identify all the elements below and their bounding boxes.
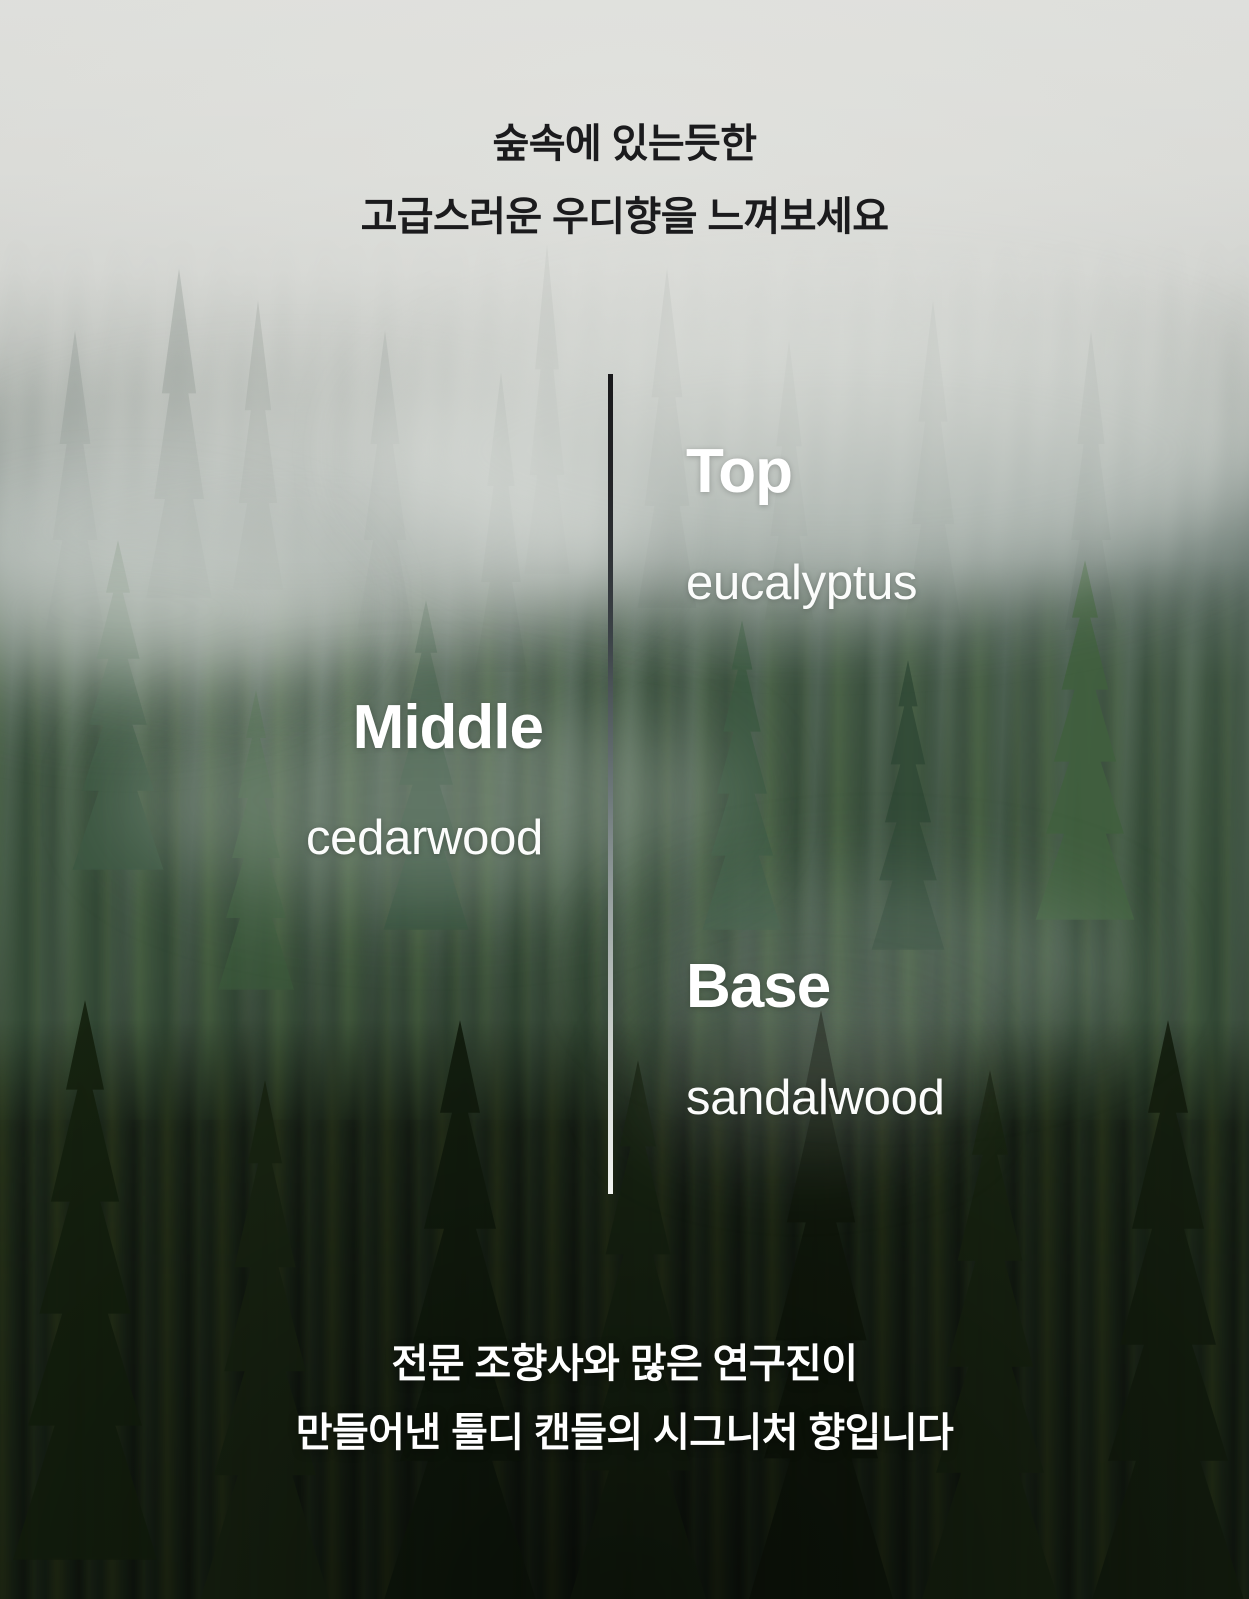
fragrance-note-middle: Middle cedarwood	[0, 697, 543, 863]
vertical-divider-line	[608, 374, 613, 1194]
note-title-middle: Middle	[0, 697, 543, 759]
note-value-base: sandalwood	[686, 1074, 945, 1123]
promo-banner: 숲속에 있는듯한 고급스러운 우디향을 느껴보세요 Top eucalyptus…	[0, 0, 1249, 1599]
note-title-base: Base	[686, 956, 945, 1018]
content-layer: 숲속에 있는듯한 고급스러운 우디향을 느껴보세요 Top eucalyptus…	[0, 0, 1249, 1599]
fragrance-note-top: Top eucalyptus	[686, 441, 917, 608]
footer-text: 전문 조향사와 많은 연구진이 만들어낸 툴디 캔들의 시그니처 향입니다	[0, 1330, 1249, 1468]
note-value-middle: cedarwood	[0, 814, 543, 863]
fragrance-note-base: Base sandalwood	[686, 956, 945, 1123]
headline-text: 숲속에 있는듯한 고급스러운 우디향을 느껴보세요	[0, 108, 1249, 254]
note-value-top: eucalyptus	[686, 559, 917, 608]
note-title-top: Top	[686, 441, 917, 503]
